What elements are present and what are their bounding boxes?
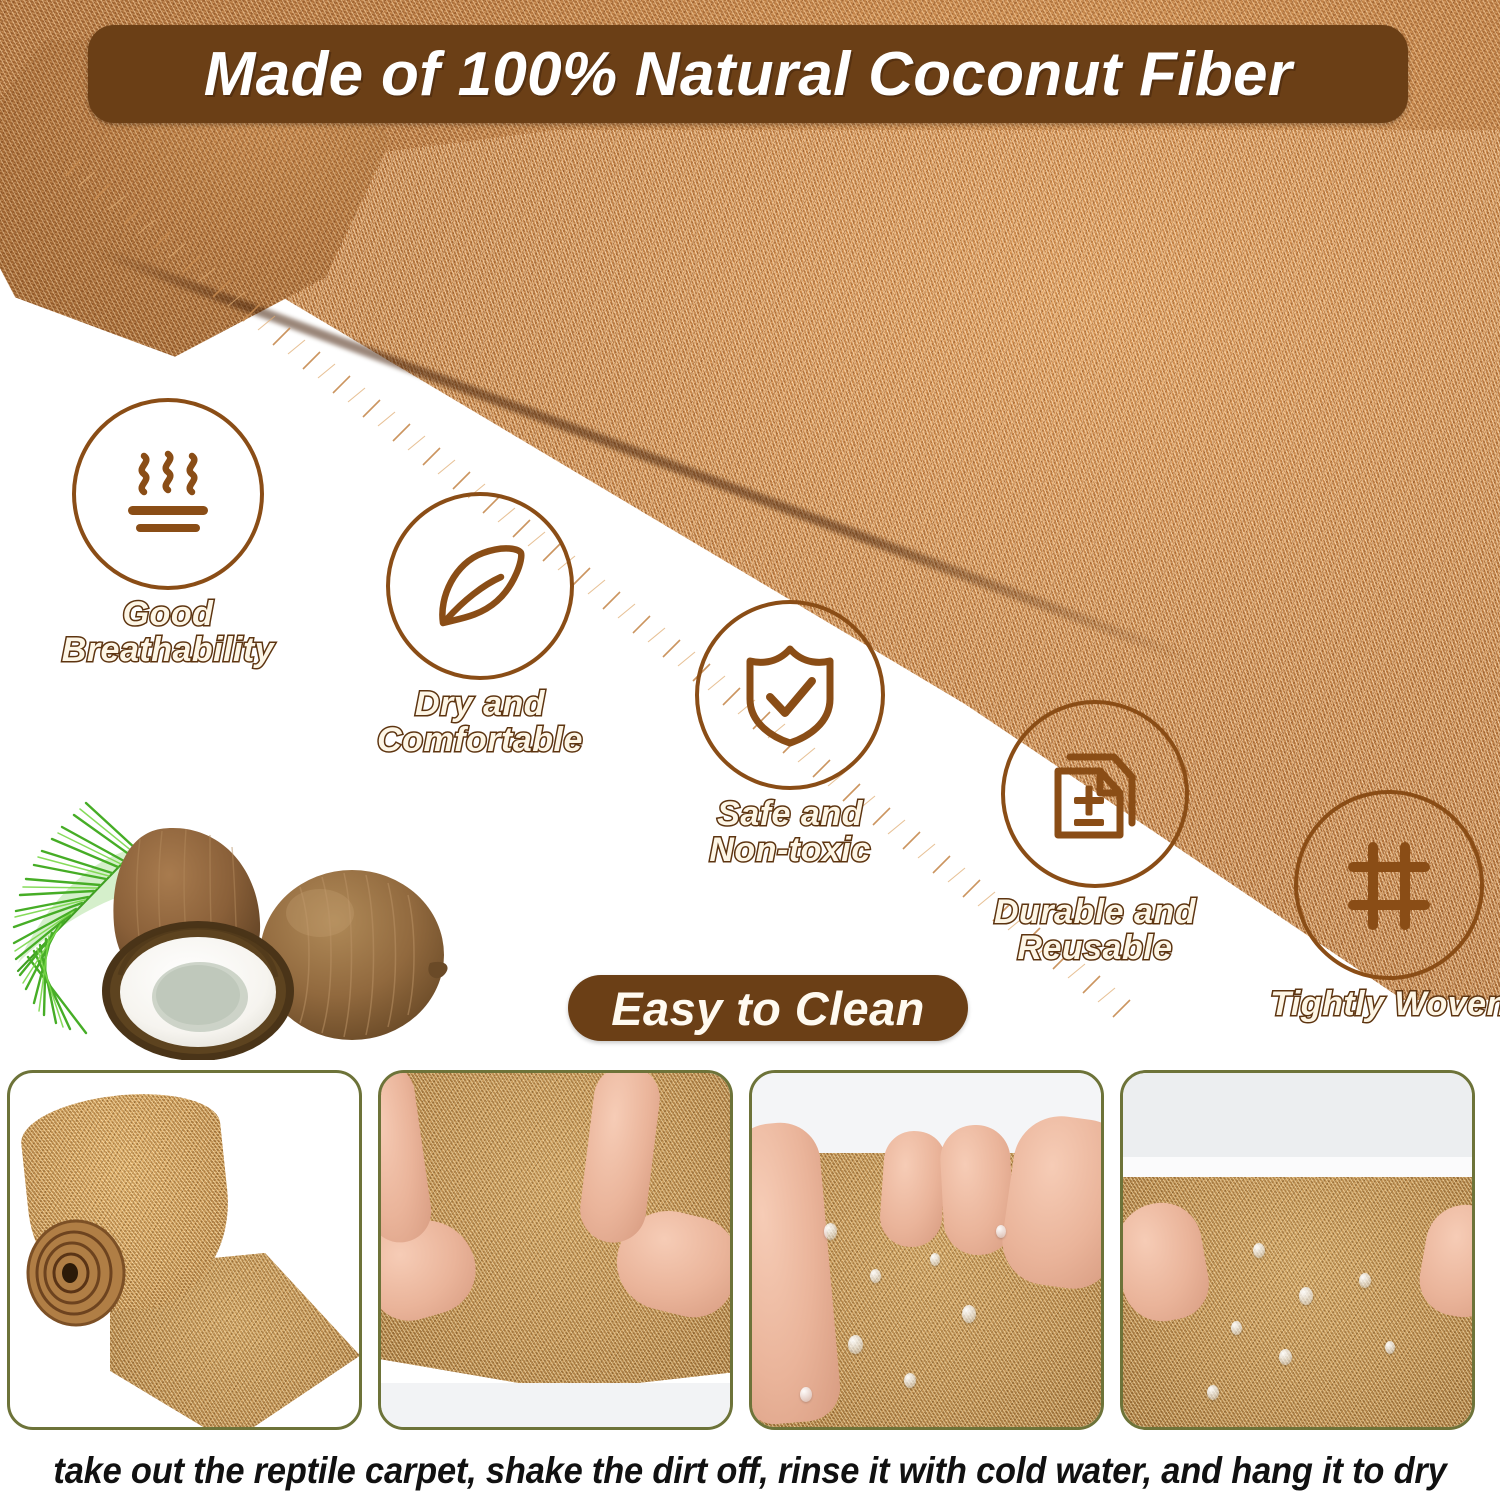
badge-circle — [72, 398, 264, 590]
water-droplet — [1279, 1349, 1292, 1365]
feature-label-line2: Non-toxic — [709, 832, 870, 868]
feature-label-line1: Tightly Woven — [1270, 986, 1500, 1022]
feature-label-woven: Tightly Woven — [1270, 986, 1500, 1022]
feature-label-dry: Dry and Comfortable — [377, 686, 583, 758]
water-droplet — [800, 1387, 812, 1402]
page-title: Made of 100% Natural Coconut Fiber — [204, 39, 1292, 110]
feature-badge-safe: Safe and Non-toxic — [655, 600, 925, 868]
water-droplet — [1299, 1287, 1313, 1305]
feature-label-safe: Safe and Non-toxic — [709, 796, 870, 868]
breathability-icon — [108, 434, 228, 554]
feature-label-line2: Comfortable — [377, 722, 583, 758]
title-banner: Made of 100% Natural Coconut Fiber — [88, 25, 1408, 123]
water-droplet — [996, 1225, 1006, 1238]
easy-to-clean-banner: Easy to Clean — [568, 975, 968, 1041]
water-droplet — [1207, 1385, 1219, 1400]
easy-to-clean-label: Easy to Clean — [611, 981, 924, 1036]
left-finger — [878, 1129, 948, 1249]
water-droplet — [930, 1253, 940, 1266]
badge-circle — [1294, 790, 1484, 980]
feature-label-line1: Dry and — [377, 686, 583, 722]
bottom-caption: take out the reptile carpet, shake the d… — [0, 1444, 1500, 1498]
table-surface — [381, 1383, 730, 1427]
hanging-mat-photo — [1120, 1070, 1475, 1430]
water-droplet — [1231, 1321, 1242, 1335]
documents-icon — [1036, 735, 1154, 853]
feature-badge-durable: Durable and Reusable — [955, 700, 1235, 966]
feature-badge-woven: Tightly Woven — [1258, 790, 1500, 1022]
feature-label-breathability: Good Breathability — [62, 596, 274, 668]
water-droplet — [1253, 1243, 1265, 1258]
hands-holding-mat-photo — [378, 1070, 733, 1430]
rinsing-mat-photo — [749, 1070, 1104, 1430]
photo-content — [381, 1073, 730, 1427]
mat-roll-spiral — [18, 1203, 138, 1333]
feature-label-line2: Breathability — [62, 632, 274, 668]
feature-badge-dry: Dry and Comfortable — [348, 492, 612, 758]
water-droplet — [848, 1335, 863, 1354]
leaf-icon — [421, 527, 539, 645]
badge-circle — [695, 600, 885, 790]
water-droplet — [824, 1223, 837, 1240]
feature-label-line1: Durable and — [994, 894, 1196, 930]
photo-strip — [0, 1062, 1500, 1440]
water-droplet — [962, 1305, 976, 1323]
feature-label-line1: Good — [62, 596, 274, 632]
coconut-halved — [102, 828, 294, 1060]
photo-content — [10, 1073, 359, 1427]
water-droplet — [1385, 1341, 1395, 1354]
hero-image: Made of 100% Natural Coconut Fiber Good … — [0, 0, 1500, 1060]
photo-content — [752, 1073, 1101, 1427]
shield-check-icon — [730, 635, 850, 755]
feature-badge-breathability: Good Breathability — [36, 398, 300, 668]
water-droplet — [870, 1269, 881, 1283]
badge-circle — [386, 492, 574, 680]
feature-label-line2: Reusable — [994, 930, 1196, 966]
coconut-illustration — [0, 795, 455, 1060]
weave-grid-icon — [1330, 826, 1448, 944]
water-droplet — [1359, 1273, 1371, 1288]
feature-label-durable: Durable and Reusable — [994, 894, 1196, 966]
photo-content — [1123, 1073, 1472, 1427]
badge-circle — [1001, 700, 1189, 888]
rolled-mat-photo — [7, 1070, 362, 1430]
feature-label-line1: Safe and — [709, 796, 870, 832]
caption-text: take out the reptile carpet, shake the d… — [53, 1450, 1446, 1492]
water-droplet — [904, 1373, 916, 1388]
